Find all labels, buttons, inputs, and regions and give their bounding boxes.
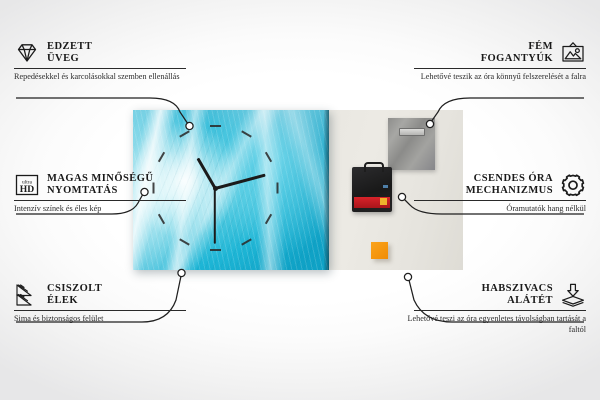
callout-divider bbox=[414, 200, 586, 201]
callout-title: MAGAS MINŐSÉGŰNYOMTATÁS bbox=[47, 173, 153, 198]
mechanism-handle bbox=[364, 162, 384, 172]
callout-foam-pad: HABSZIVACSALÁTÉT Lehetővé teszi az óra e… bbox=[400, 282, 586, 335]
connector-endpoint-foam-pad bbox=[404, 273, 411, 280]
callout-description: Óramutatók hang nélkül bbox=[400, 204, 586, 215]
callout-title: CSISZOLTÉLEK bbox=[47, 283, 102, 308]
press-pad-icon bbox=[560, 282, 586, 308]
diamond-icon bbox=[14, 40, 40, 66]
callout-divider bbox=[14, 68, 186, 69]
clock-tick bbox=[276, 183, 278, 194]
clock-tick bbox=[210, 249, 221, 251]
callout-description: Lehetővé teszik az óra könnyű felszerelé… bbox=[400, 72, 586, 83]
callout-header: CSENDES ÓRAMECHANIZMUS bbox=[400, 172, 586, 198]
callout-description: Repedésekkel és karcolásokkal szemben el… bbox=[14, 72, 200, 83]
metal-hanger-plate bbox=[388, 118, 435, 170]
callout-title: EDZETTÜVEG bbox=[47, 41, 92, 66]
picture-frame-icon bbox=[560, 40, 586, 66]
clock-mechanism bbox=[352, 167, 392, 212]
mechanism-label bbox=[354, 197, 390, 208]
callout-description: Lehetővé teszi az óra egyenletes távolsá… bbox=[400, 314, 586, 335]
callout-silent-mechanism: CSENDES ÓRAMECHANIZMUS Óramutatók hang n… bbox=[400, 172, 586, 215]
callout-high-quality-print: ultra HD MAGAS MINŐSÉGŰNYOMTATÁS Intenzí… bbox=[14, 172, 200, 215]
callout-tempered-glass: EDZETTÜVEG Repedésekkel és karcolásokkal… bbox=[14, 40, 200, 83]
callout-header: FÉMFOGANTYÚK bbox=[400, 40, 586, 66]
svg-text:HD: HD bbox=[20, 184, 34, 195]
connector-endpoint-polished-edges bbox=[178, 269, 185, 276]
callout-description: Intenzív színek és éles kép bbox=[14, 204, 200, 215]
battery-plus-marker bbox=[380, 198, 387, 205]
hanger-slot bbox=[399, 128, 425, 136]
callout-title: FÉMFOGANTYÚK bbox=[481, 41, 553, 66]
callout-title: CSENDES ÓRAMECHANIZMUS bbox=[466, 173, 553, 198]
mechanism-marking bbox=[383, 185, 388, 188]
foam-spacer-pad bbox=[371, 242, 388, 259]
callout-header: CSISZOLTÉLEK bbox=[14, 282, 200, 308]
callout-header: HABSZIVACSALÁTÉT bbox=[400, 282, 586, 308]
polished-edges-icon bbox=[14, 282, 40, 308]
ultra-hd-icon: ultra HD bbox=[14, 172, 40, 198]
callout-header: EDZETTÜVEG bbox=[14, 40, 200, 66]
callout-title: HABSZIVACSALÁTÉT bbox=[482, 283, 553, 308]
callout-divider bbox=[14, 200, 186, 201]
panel-right-edge bbox=[324, 110, 329, 270]
callout-divider bbox=[414, 68, 586, 69]
clock-hand-hub bbox=[213, 186, 218, 191]
callout-header: ultra HD MAGAS MINŐSÉGŰNYOMTATÁS bbox=[14, 172, 200, 198]
callout-description: Sima és biztonságos felület bbox=[14, 314, 200, 325]
second-hand bbox=[214, 188, 216, 244]
clock-tick bbox=[210, 125, 221, 127]
callout-metal-handles: FÉMFOGANTYÚK Lehetővé teszik az óra könn… bbox=[400, 40, 586, 83]
callout-divider bbox=[14, 310, 186, 311]
product-infographic: EDZETTÜVEG Repedésekkel és karcolásokkal… bbox=[0, 0, 600, 400]
callout-polished-edges: CSISZOLTÉLEK Sima és biztonságos felület bbox=[14, 282, 200, 325]
gear-icon bbox=[560, 172, 586, 198]
callout-divider bbox=[414, 310, 586, 311]
